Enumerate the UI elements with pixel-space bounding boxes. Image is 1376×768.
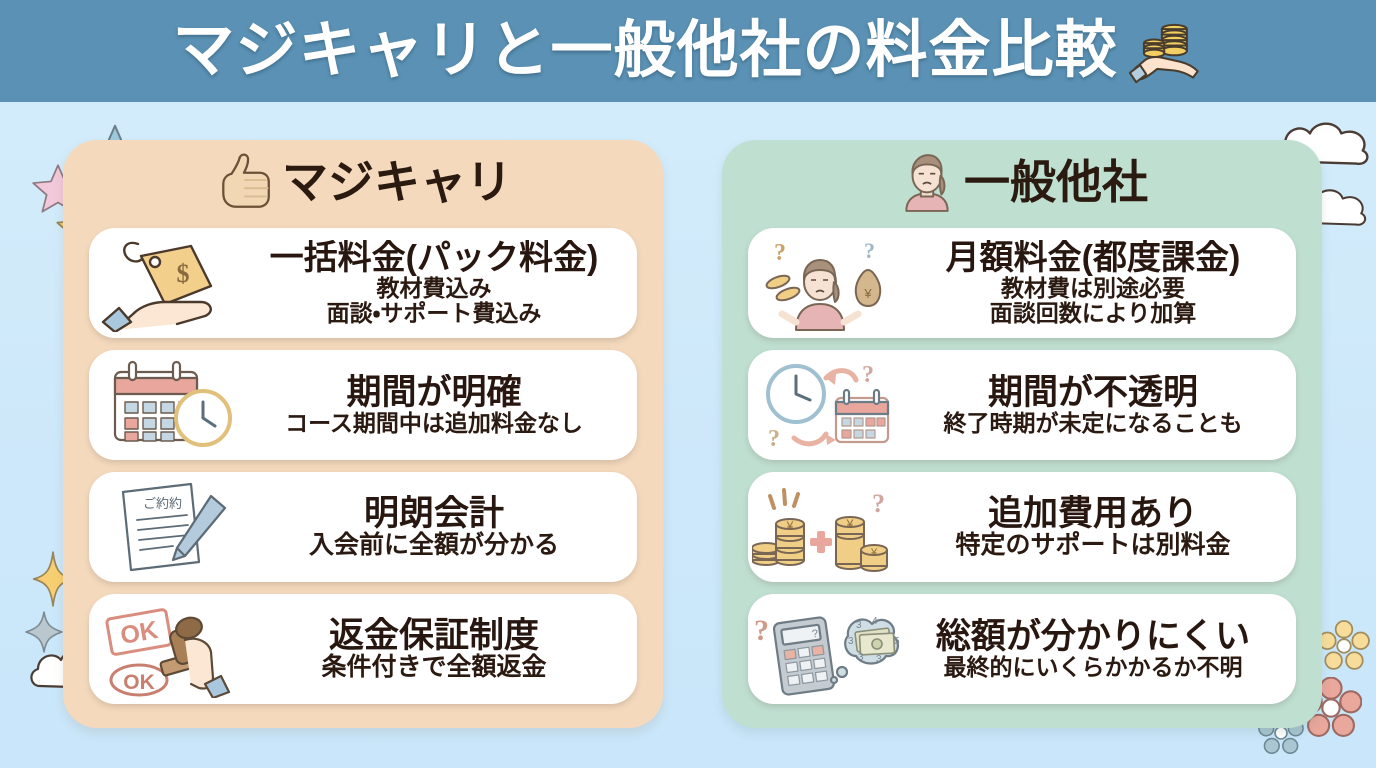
- price-tag-hand-icon: $: [93, 234, 243, 332]
- svg-text:$: $: [177, 259, 190, 288]
- panel-other-companies-title: 一般他社: [964, 159, 1148, 205]
- card-title: 明朗会計: [243, 495, 625, 532]
- confused-person-money-icon: ? ? ¥: [752, 234, 902, 332]
- svg-text:?: ?: [768, 426, 780, 452]
- panel-other-companies: 一般他社 ? ? ¥: [722, 140, 1322, 728]
- card-other-3-text: 追加費用あり 特定のサポートは別料金: [902, 495, 1288, 560]
- svg-text:?: ?: [862, 362, 874, 388]
- card-title: 一括料金(パック料金): [243, 240, 625, 276]
- svg-text:?: ?: [754, 614, 769, 647]
- svg-text:¥: ¥: [863, 286, 872, 301]
- calculator-money-cloud-icon: ? ?: [752, 600, 902, 698]
- svg-text:¥: ¥: [870, 547, 878, 559]
- majicari-card-list: $ 一括料金(パック料金) 教材費込み 面談・サポート費込み: [89, 228, 637, 704]
- card-sub: 終了時期が未定になることも: [902, 411, 1284, 436]
- card-title: 総額が分かりにくい: [902, 618, 1284, 655]
- worried-person-icon: [896, 151, 958, 213]
- hand-holding-coins-icon: [1126, 12, 1204, 90]
- ok-stamp-icon: OK OK: [93, 600, 243, 698]
- svg-text:3: 3: [858, 652, 864, 663]
- card-majicari-2[interactable]: 期間が明確 コース期間中は追加料金なし: [89, 350, 637, 460]
- other-companies-card-list: ? ? ¥: [748, 228, 1296, 704]
- infographic-canvas: マジキャリと一般他社の料金比較: [0, 0, 1376, 768]
- coins-plus-question-icon: ¥ ¥ ¥ ?: [752, 478, 902, 576]
- svg-text:4: 4: [872, 616, 878, 627]
- card-title: 期間が不透明: [902, 374, 1284, 411]
- card-sub: 教材費は別途必要: [902, 276, 1284, 301]
- card-sub: 特定のサポートは別料金: [902, 532, 1284, 560]
- card-other-1-text: 月額料金(都度課金) 教材費は別途必要 面談回数により加算: [902, 240, 1288, 327]
- panel-majicari-header: マジキャリ: [63, 140, 663, 216]
- card-other-3[interactable]: ¥ ¥ ¥ ? 追加費用あり 特定のサポートは別料金: [748, 472, 1296, 582]
- card-other-2[interactable]: ? ?: [748, 350, 1296, 460]
- card-title: 期間が明確: [243, 374, 625, 411]
- card-title: 追加費用あり: [902, 495, 1284, 532]
- card-majicari-1-text: 一括料金(パック料金) 教材費込み 面談・サポート費込み: [243, 240, 629, 327]
- svg-text:ご約約: ご約約: [143, 496, 182, 511]
- card-sub: 面談・サポート費込み: [243, 301, 625, 326]
- panel-majicari: マジキャリ $: [63, 140, 663, 728]
- flower-yellow-icon: [1318, 620, 1370, 672]
- card-majicari-2-text: 期間が明確 コース期間中は追加料金なし: [243, 374, 629, 436]
- svg-text:?: ?: [864, 238, 875, 263]
- card-other-4[interactable]: ? ?: [748, 594, 1296, 704]
- panel-other-companies-header: 一般他社: [722, 140, 1322, 216]
- card-sub: 教材費込み: [243, 276, 625, 301]
- svg-text:?: ?: [774, 240, 786, 266]
- page-title: マジキャリと一般他社の料金比較: [172, 20, 1117, 82]
- card-title: 月額料金(都度課金): [902, 240, 1284, 276]
- svg-text:3: 3: [848, 636, 854, 647]
- card-sub: 入会前に全額が分かる: [243, 532, 625, 560]
- card-sub: 最終的にいくらかかるか不明: [902, 655, 1284, 680]
- svg-text:¥: ¥: [846, 517, 854, 531]
- calendar-clock-icon: [93, 356, 243, 454]
- svg-text:3: 3: [876, 654, 882, 665]
- svg-text:3: 3: [856, 620, 862, 631]
- card-majicari-1[interactable]: $ 一括料金(パック料金) 教材費込み 面談・サポート費込み: [89, 228, 637, 338]
- card-majicari-3[interactable]: ご約約 明朗会計 入会前に全額が分かる: [89, 472, 637, 582]
- card-sub: 面談回数により加算: [902, 301, 1284, 326]
- card-majicari-3-text: 明朗会計 入会前に全額が分かる: [243, 495, 629, 560]
- header-banner: マジキャリと一般他社の料金比較: [0, 0, 1376, 102]
- card-sub: コース期間中は追加料金なし: [243, 411, 625, 436]
- card-other-2-text: 期間が不透明 終了時期が未定になることも: [902, 374, 1288, 436]
- thumbs-up-icon: [214, 151, 276, 213]
- svg-text:?: ?: [872, 489, 885, 518]
- svg-text:OK: OK: [123, 671, 155, 694]
- card-other-4-text: 総額が分かりにくい 最終的にいくらかかるか不明: [902, 618, 1288, 680]
- contract-pen-icon: ご約約: [93, 478, 243, 576]
- svg-text:5: 5: [894, 636, 900, 647]
- clock-calendar-question-icon: ? ?: [752, 356, 902, 454]
- card-majicari-4[interactable]: OK OK: [89, 594, 637, 704]
- card-sub: 条件付きで全額返金: [243, 654, 625, 682]
- svg-text:¥: ¥: [786, 519, 794, 533]
- panel-majicari-title: マジキャリ: [282, 159, 512, 205]
- card-majicari-4-text: 返金保証制度 条件付きで全額返金: [243, 617, 629, 682]
- card-title: 返金保証制度: [243, 617, 625, 654]
- card-other-1[interactable]: ? ? ¥: [748, 228, 1296, 338]
